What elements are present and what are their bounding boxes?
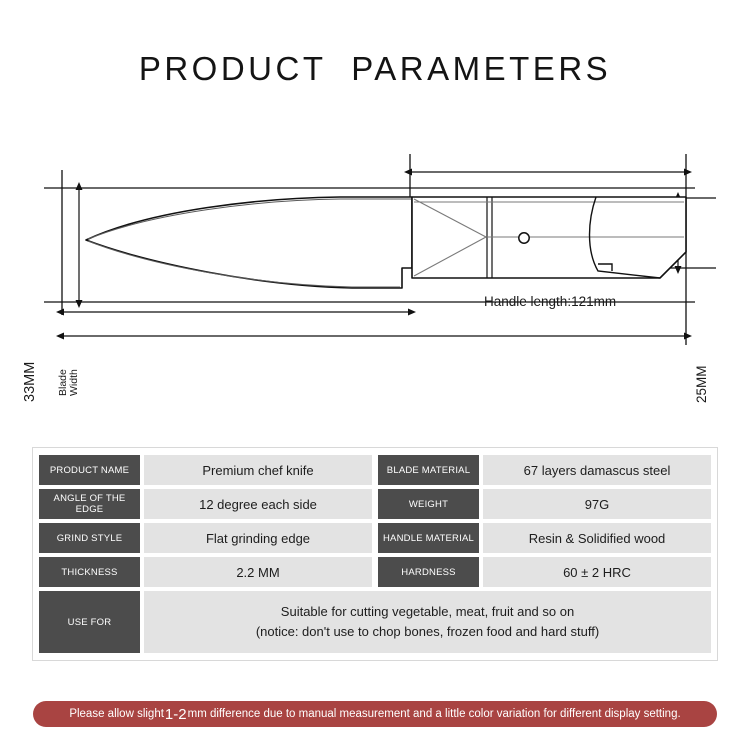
spec-key: BLADE MATERIAL [378,455,479,485]
blade-width-value: 33MM [22,362,38,402]
use-for-line1: Suitable for cutting vegetable, meat, fr… [281,602,574,622]
page-title: PRODUCT PARAMETERS [0,50,750,88]
spec-pair-right: HANDLE MATERIAL Resin & Solidified wood [375,523,711,553]
spec-value: 67 layers damascus steel [483,455,711,485]
table-row: ANGLE OF THE EDGE 12 degree each side WE… [39,489,711,519]
spec-value: 97G [483,489,711,519]
spec-value: 2.2 MM [144,557,372,587]
measurement-notice: Please allow slight 1-2mm difference due… [33,701,717,727]
spec-value: Premium chef knife [144,455,372,485]
blade-width-label-line2: Width [69,369,80,396]
spec-key: THICKNESS [39,557,140,587]
spec-pair-left: THICKNESS 2.2 MM [39,557,375,587]
blade-width-label-line1: Blade [58,369,69,396]
spec-pair-left: ANGLE OF THE EDGE 12 degree each side [39,489,375,519]
table-row: PRODUCT NAME Premium chef knife BLADE MA… [39,455,711,485]
spec-pair-left: GRIND STYLE Flat grinding edge [39,523,375,553]
blade-width-label: Blade Width [58,369,79,396]
handle-height-value: 25MM [694,365,709,403]
spec-key: HANDLE MATERIAL [378,523,479,553]
spec-pair-right: HARDNESS 60 ± 2 HRC [375,557,711,587]
table-row-use-for: USE FOR Suitable for cutting vegetable, … [39,591,711,653]
spec-value: Suitable for cutting vegetable, meat, fr… [144,591,711,653]
spec-value: Flat grinding edge [144,523,372,553]
spec-value: Resin & Solidified wood [483,523,711,553]
table-row: GRIND STYLE Flat grinding edge HANDLE MA… [39,523,711,553]
spec-key: WEIGHT [378,489,479,519]
spec-key: HARDNESS [378,557,479,587]
spec-key: PRODUCT NAME [39,455,140,485]
spec-table: PRODUCT NAME Premium chef knife BLADE MA… [32,447,718,661]
spec-key: GRIND STYLE [39,523,140,553]
spec-key: ANGLE OF THE EDGE [39,489,140,519]
spec-value: 60 ± 2 HRC [483,557,711,587]
spec-key: USE FOR [39,591,140,653]
table-row: THICKNESS 2.2 MM HARDNESS 60 ± 2 HRC [39,557,711,587]
spec-pair-right: WEIGHT 97G [375,489,711,519]
spec-value: 12 degree each side [144,489,372,519]
spec-pair-right: BLADE MATERIAL 67 layers damascus steel [375,455,711,485]
use-for-line2: (notice: don't use to chop bones, frozen… [256,622,599,642]
notice-highlight: 1-2 [164,706,188,723]
knife-diagram: Handle length:121mm Blade length:140MM T… [0,140,750,370]
handle-length-label: Handle length:121mm [484,294,616,309]
spec-pair-left: PRODUCT NAME Premium chef knife [39,455,375,485]
notice-suffix: mm difference due to manual measurement … [188,708,681,720]
notice-prefix: Please allow slight [69,708,164,720]
